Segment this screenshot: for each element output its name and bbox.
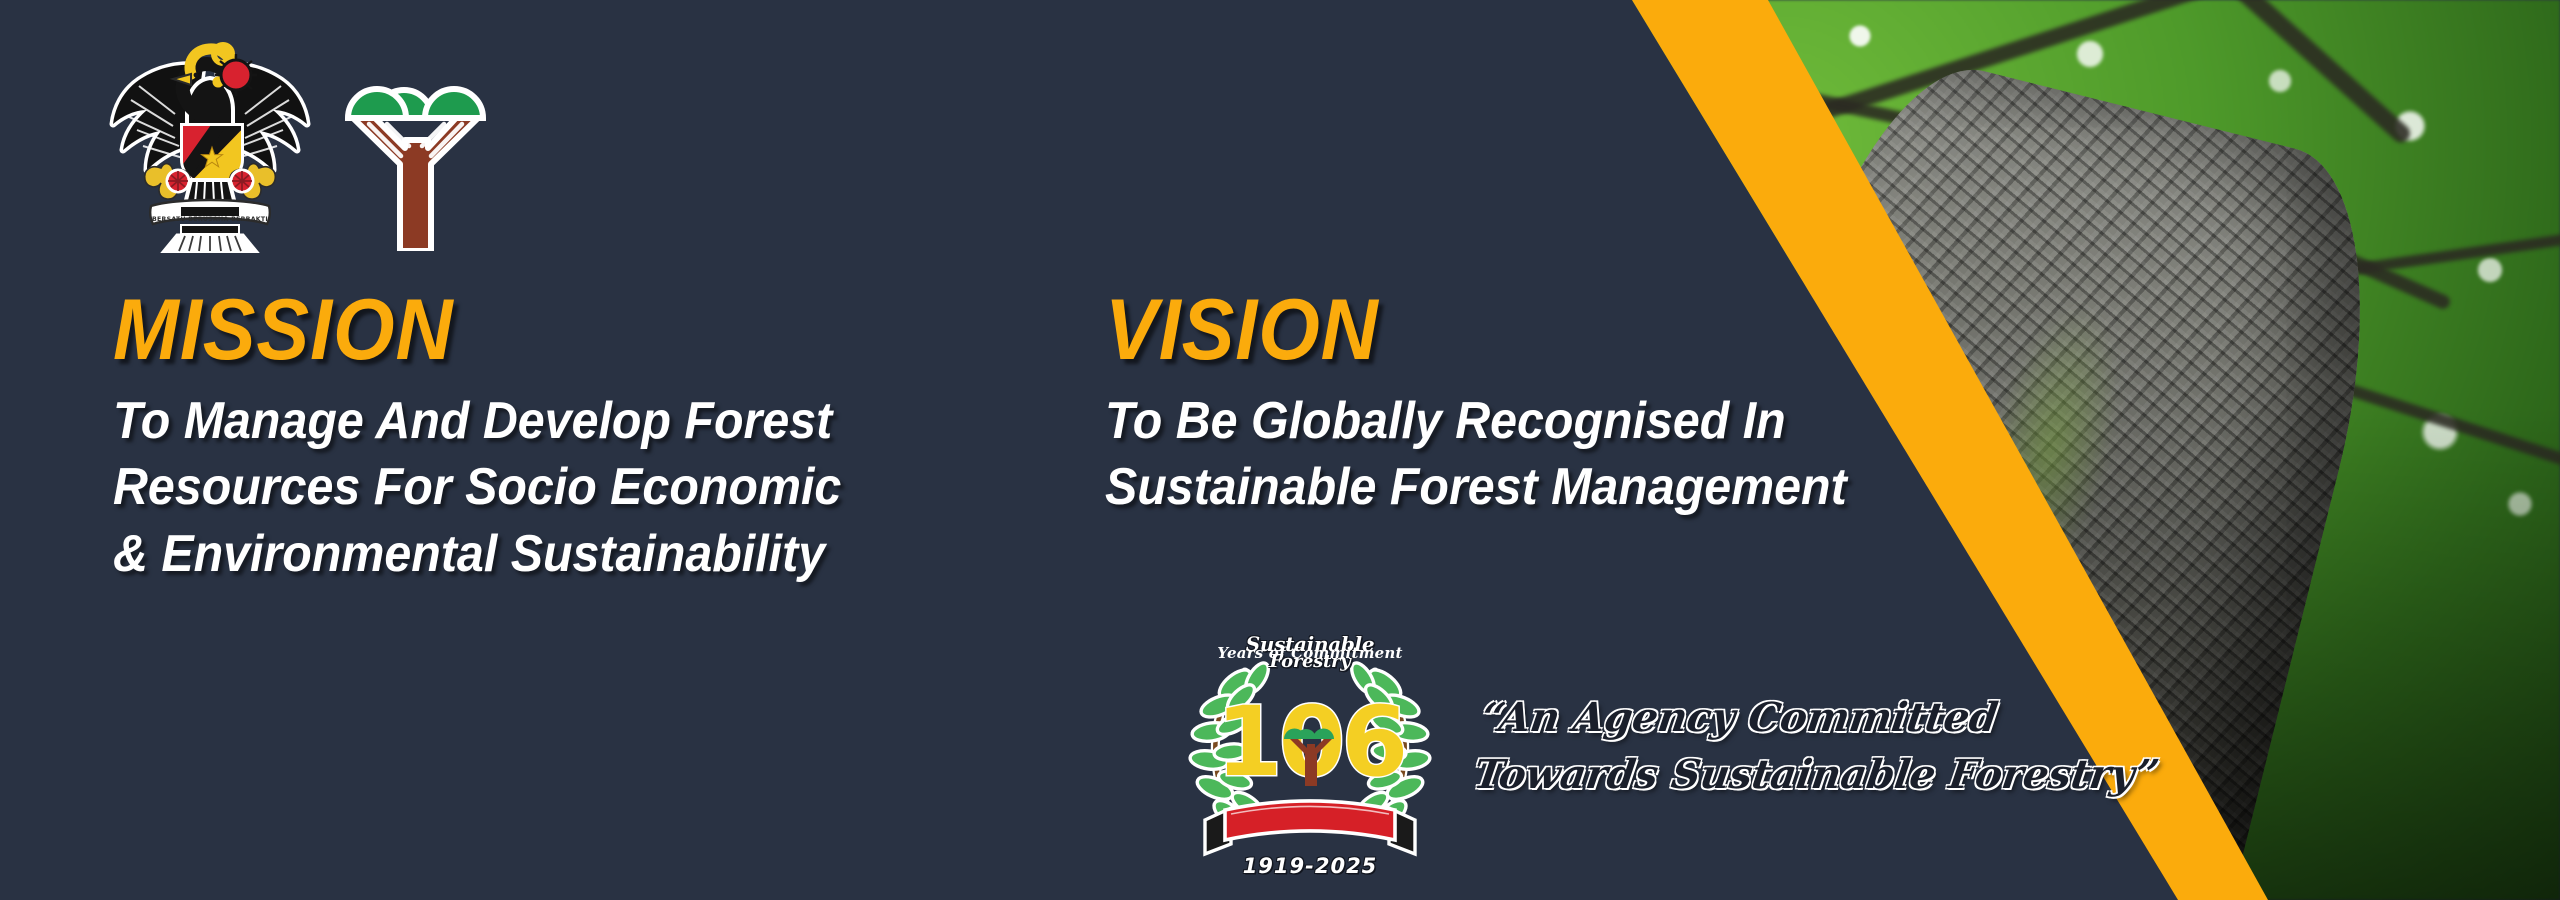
forest-department-tree-logo-icon: [343, 46, 488, 251]
agency-tagline: “An Agency Committed Towards Sustainable…: [1470, 690, 2106, 804]
mission-line-1: To Manage And Develop Forest: [113, 388, 950, 455]
mission-line-3: & Environmental Sustainability: [113, 521, 950, 588]
tagline-line-1: “An Agency Committed: [1478, 690, 2106, 747]
ribbon-banner: [1205, 801, 1415, 854]
sarawak-coat-of-arms-icon: BERSATU BERUSAHA BERBAKTI: [95, 18, 325, 253]
tagline-line-2: Towards Sustainable Forestry”: [1470, 747, 2098, 804]
vision-line-1: To Be Globally Recognised In: [1105, 388, 1970, 455]
emblem-years-range: 1919-2025: [1185, 854, 1435, 878]
mission-heading: MISSION: [113, 290, 941, 372]
vision-block: VISION To Be Globally Recognised In Sust…: [1105, 290, 2035, 521]
vision-heading: VISION: [1105, 290, 1961, 372]
emblem-tree-icon: [1284, 714, 1336, 786]
vision-line-2: Sustainable Forest Management: [1105, 454, 1970, 521]
mission-block: MISSION To Manage And Develop Forest Res…: [113, 290, 1013, 587]
mission-vision-banner: BERSATU BERUSAHA BERBAKTI: [0, 0, 2560, 900]
mission-text: To Manage And Develop Forest Resources F…: [113, 388, 950, 588]
svg-text:BERSATU BERUSAHA BERBAKTI: BERSATU BERUSAHA BERBAKTI: [152, 216, 268, 223]
anniversary-emblem-106: Sustainable Forestry 106 Years of Commit…: [1185, 632, 1435, 882]
mission-line-2: Resources For Socio Economic: [113, 454, 950, 521]
logo-row: BERSATU BERUSAHA BERBAKTI: [95, 18, 488, 253]
vision-text: To Be Globally Recognised In Sustainable…: [1105, 388, 1970, 521]
emblem-ribbon-text: Years of Commitment: [1185, 644, 1435, 662]
